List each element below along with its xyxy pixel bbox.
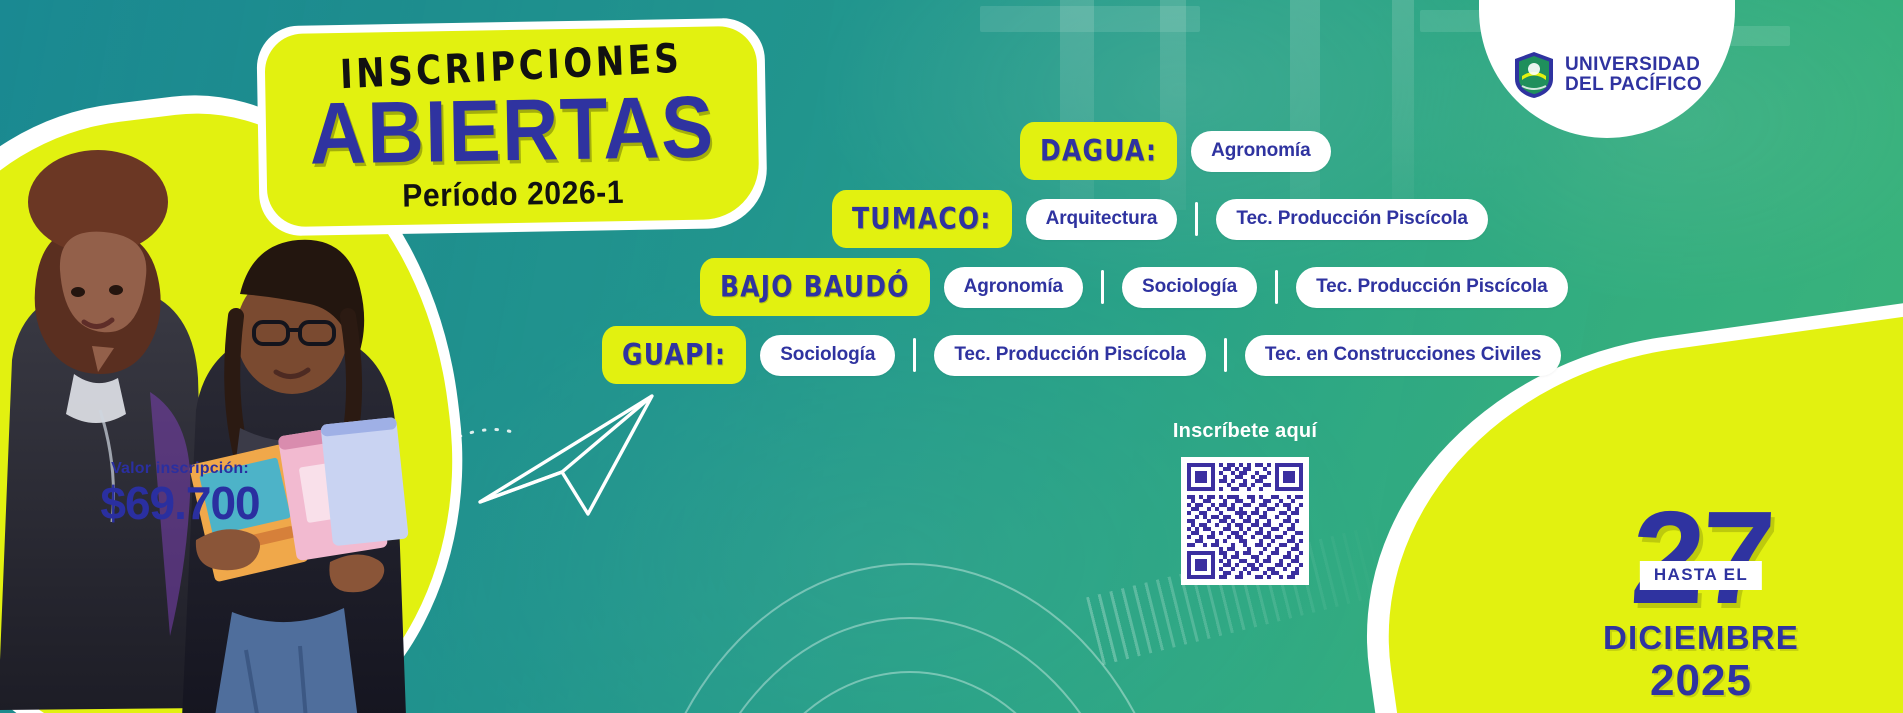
deadline-year: 2025: [1551, 659, 1851, 703]
logo-text: UNIVERSIDAD DEL PACÍFICO: [1565, 55, 1702, 95]
university-crest-icon: [1512, 50, 1556, 100]
program-pill[interactable]: Sociología: [1122, 267, 1257, 308]
program-pill[interactable]: Agronomía: [1191, 131, 1330, 172]
program-pill[interactable]: Sociología: [760, 335, 895, 376]
price-label: Valor inscripción:: [55, 460, 305, 478]
program-group-tumaco: Arquitectura Tec. Producción Piscícola: [1026, 199, 1488, 240]
qr-caption: Inscríbete aquí: [1115, 420, 1375, 443]
qr-code-graphic: [1187, 463, 1303, 579]
campus-row-dagua: DAGUA: Agronomía: [560, 126, 1570, 176]
campus-name-guapi: GUAPI:: [602, 326, 746, 384]
price-amount: $69.700: [55, 480, 305, 526]
program-group-bajo-baudo: Agronomía Sociología Tec. Producción Pis…: [944, 267, 1568, 308]
program-pill[interactable]: Tec. Producción Piscícola: [934, 335, 1206, 376]
logo-row: UNIVERSIDAD DEL PACÍFICO: [1512, 50, 1702, 100]
separator: [913, 338, 916, 372]
program-pill[interactable]: Agronomía: [944, 267, 1083, 308]
deadline-day: 27: [1548, 505, 1854, 611]
qr-section: Inscríbete aquí: [1115, 420, 1375, 585]
program-pill[interactable]: Tec. Producción Piscícola: [1216, 199, 1488, 240]
program-pill[interactable]: Arquitectura: [1026, 199, 1178, 240]
program-group-dagua: Agronomía: [1191, 131, 1330, 172]
campus-name-bajo-baudo: BAJO BAUDÓ: [700, 258, 930, 316]
campus-row-bajo-baudo: BAJO BAUDÓ Agronomía Sociología Tec. Pro…: [560, 262, 1570, 312]
campus-name-tumaco: TUMACO:: [832, 190, 1012, 248]
program-group-guapi: Sociología Tec. Producción Piscícola Tec…: [760, 335, 1561, 376]
promo-banner: S ANGELE L I F O R N: [0, 0, 1903, 713]
deadline-prefix: HASTA EL: [1640, 561, 1762, 590]
logo-line-2: DEL PACÍFICO: [1565, 75, 1702, 95]
separator: [1101, 270, 1104, 304]
separator: [1275, 270, 1278, 304]
separator: [1195, 202, 1198, 236]
deadline-block: 27 HASTA EL DICIEMBRE 2025: [1551, 505, 1851, 703]
logo-line-1: UNIVERSIDAD: [1565, 55, 1702, 75]
paper-plane-icon: [470, 390, 670, 520]
price-block: Valor inscripción: $69.700: [55, 460, 305, 526]
program-pill[interactable]: Tec. en Construcciones Civiles: [1245, 335, 1561, 376]
campus-row-tumaco: TUMACO: Arquitectura Tec. Producción Pis…: [560, 194, 1570, 244]
campus-row-guapi: GUAPI: Sociología Tec. Producción Piscíc…: [560, 330, 1570, 380]
campus-program-list: DAGUA: Agronomía TUMACO: Arquitectura Te…: [560, 126, 1570, 398]
campus-name-dagua: DAGUA:: [1020, 122, 1177, 180]
qr-code[interactable]: [1181, 457, 1309, 585]
program-pill[interactable]: Tec. Producción Piscícola: [1296, 267, 1568, 308]
bg-strip: [980, 6, 1200, 32]
separator: [1224, 338, 1227, 372]
